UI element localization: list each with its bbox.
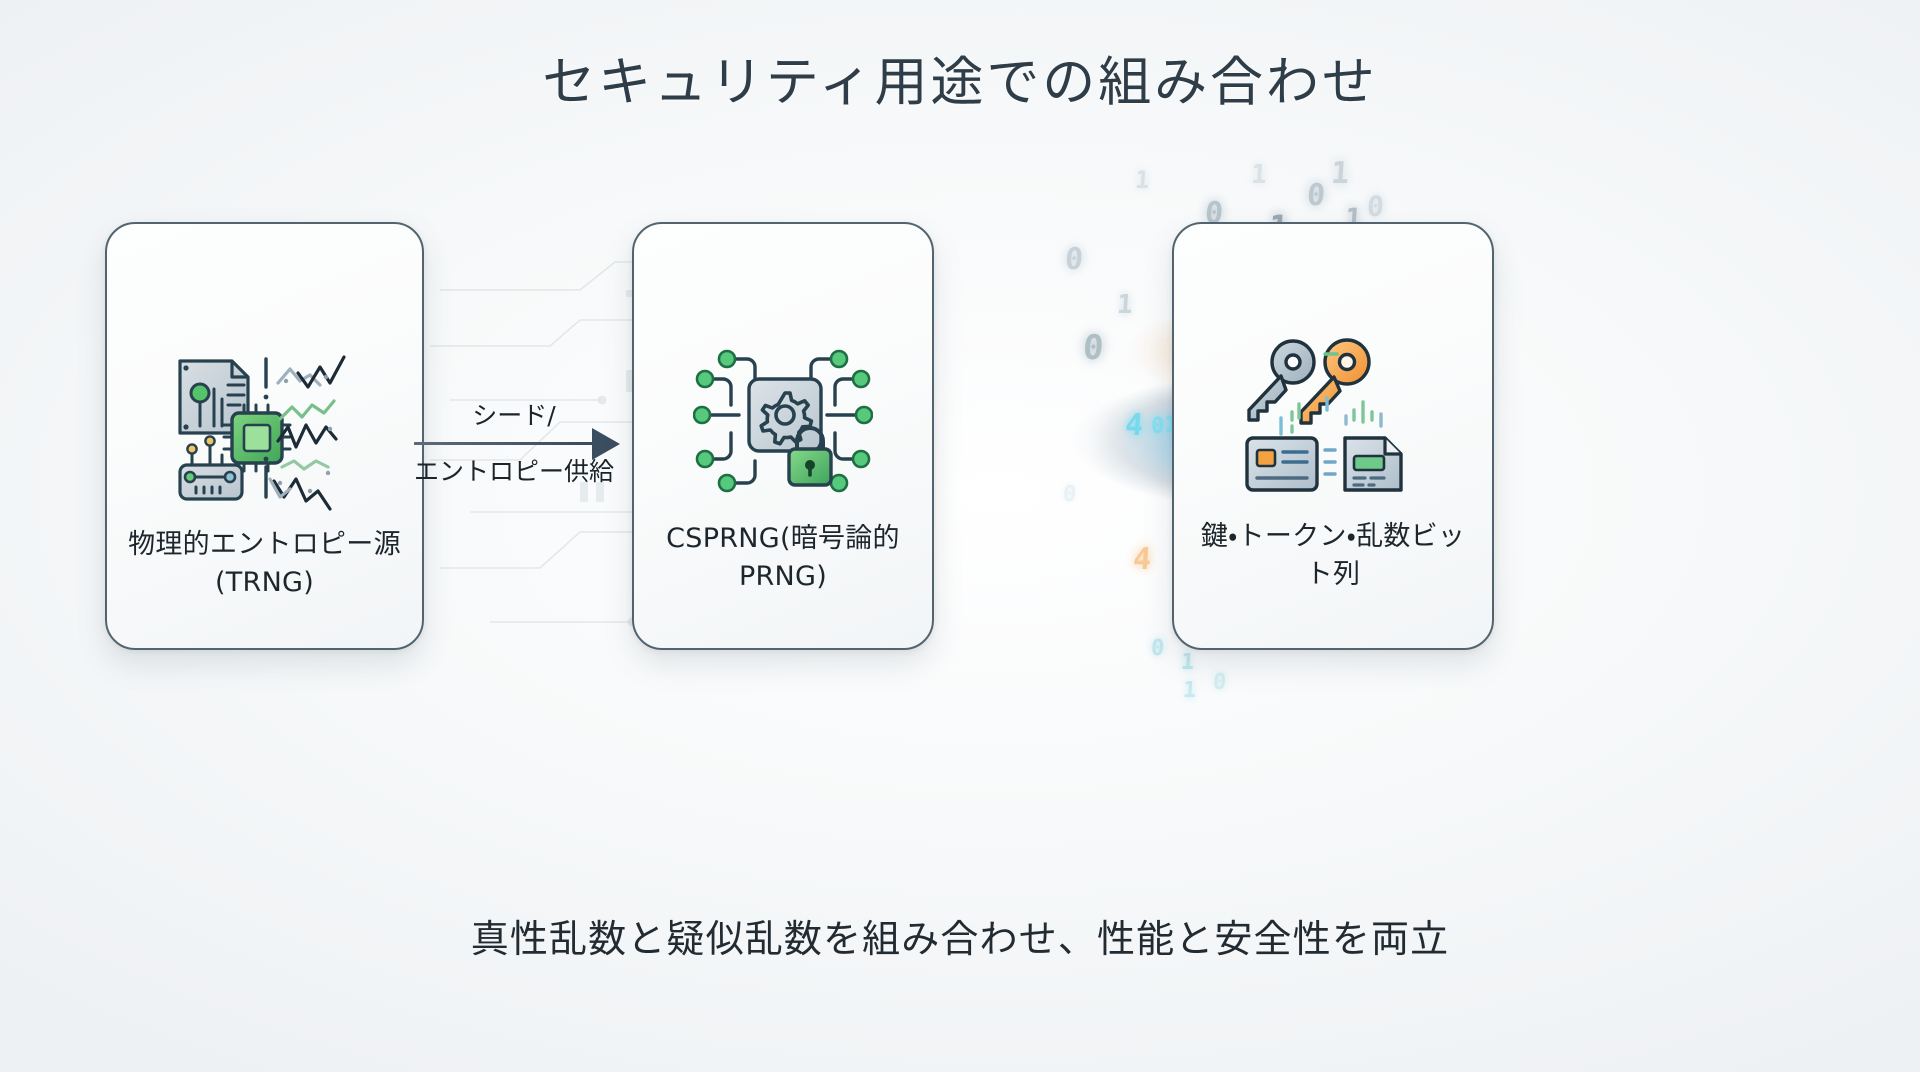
slide-caption: 真性乱数と疑似乱数を組み合わせ、性能と安全性を両立 — [0, 908, 1920, 963]
stream-digit: 0 — [1366, 190, 1385, 223]
stream-digit: 0 — [1062, 482, 1077, 507]
stream-digit: 0 — [1064, 242, 1085, 277]
stream-digit: 0 — [1212, 670, 1227, 695]
stream-digit: 1 — [1330, 156, 1351, 191]
page-title: セキュリティ用途での組み合わせ — [0, 40, 1920, 116]
card-label: CSPRNG(暗号論的PRNG) — [634, 520, 932, 597]
stream-digit: 4 — [1124, 408, 1145, 443]
connector-label-top: シード/ — [414, 396, 614, 432]
stream-digit: 1 — [1182, 678, 1197, 703]
stream-digit: 4 — [1132, 542, 1153, 577]
stream-digit: 0 — [1306, 178, 1327, 213]
keys-token-document-icon — [1241, 334, 1426, 504]
stream-digit: 1 — [1250, 160, 1268, 190]
card-csprng[interactable]: CSPRNG(暗号論的PRNG) — [632, 222, 934, 650]
stream-digit: 1 — [1116, 290, 1134, 320]
stream-digit: 1 — [1134, 166, 1150, 194]
card-label: 鍵・トークン・乱数ビット列 — [1174, 518, 1492, 595]
seed-entropy-connector: シード/ エントロピー供給 — [414, 398, 636, 548]
circuit-gear-lock-icon — [693, 336, 873, 506]
stream-digit: 0 — [1082, 328, 1105, 368]
card-label: 物理的エントロピー源(TRNG) — [107, 526, 422, 603]
card-physical-entropy-source[interactable]: 物理的エントロピー源(TRNG) — [105, 222, 424, 650]
connector-label-bottom: エントロピー供給 — [396, 454, 632, 490]
slide-canvas: セキュリティ用途での組み合わせ — [0, 0, 1920, 1072]
connector-line — [414, 442, 598, 445]
card-keys-tokens-bitstrings[interactable]: 鍵・トークン・乱数ビット列 — [1172, 222, 1494, 650]
stream-digit: 1 — [1180, 650, 1195, 675]
entropy-hardware-chip-icon — [170, 342, 360, 512]
stream-digit: 0 — [1150, 636, 1165, 661]
